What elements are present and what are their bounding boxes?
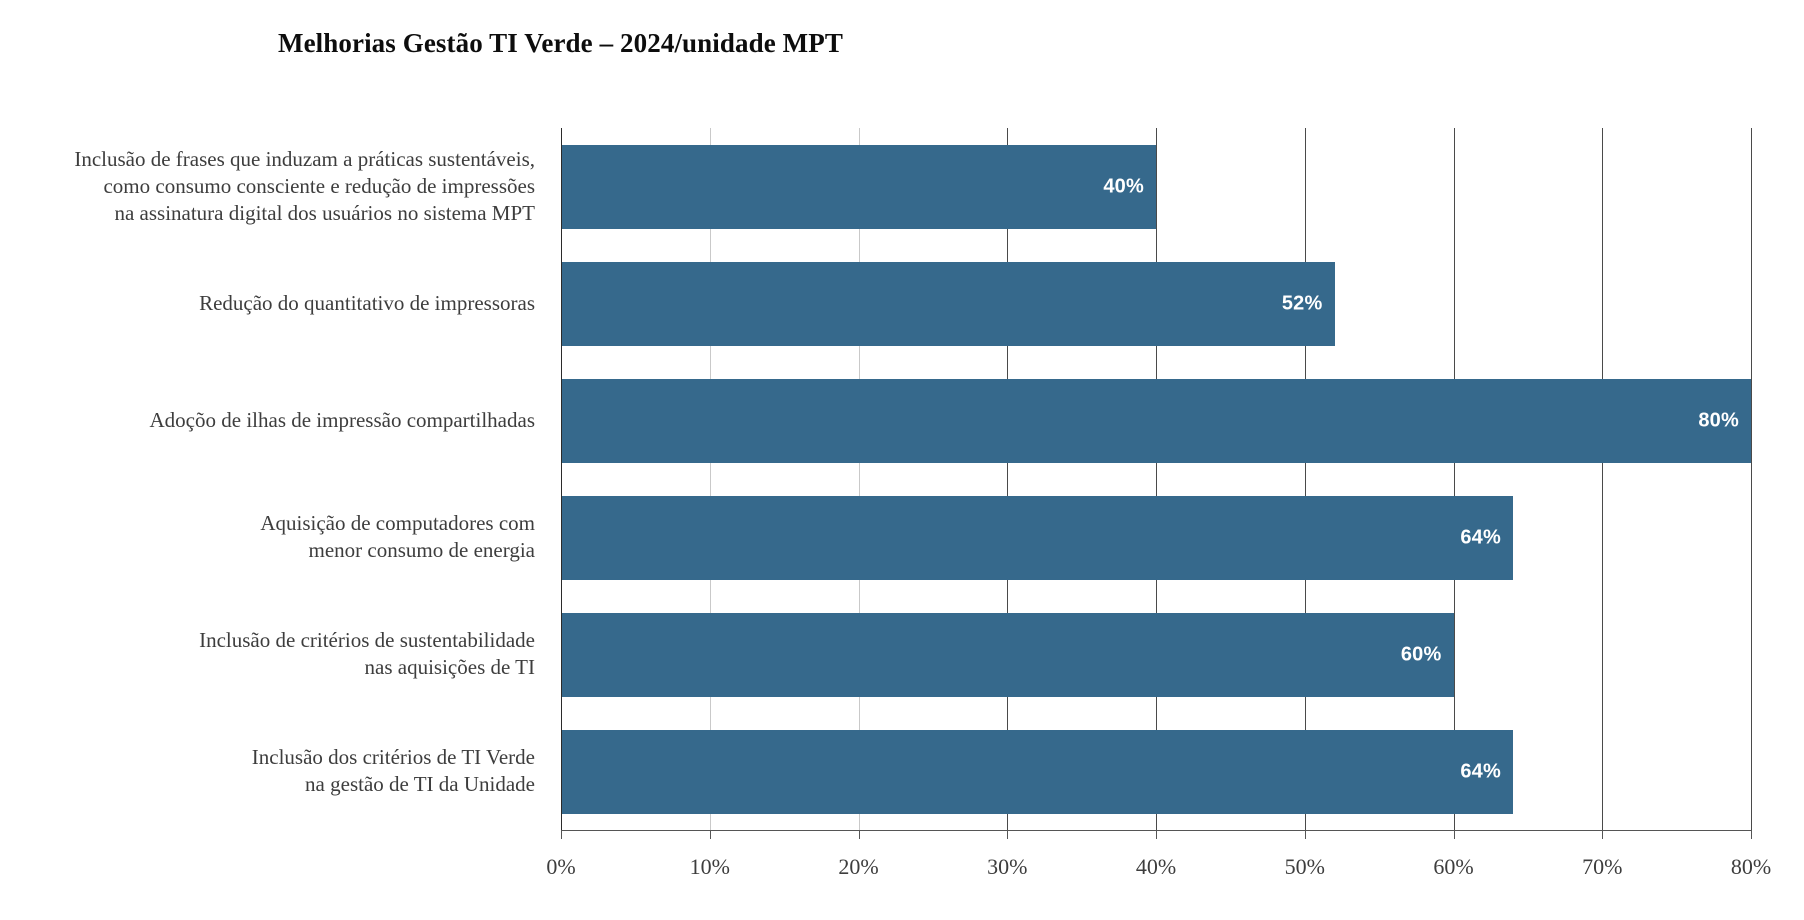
bar-row: 52% (561, 262, 1751, 346)
x-tick (859, 830, 860, 839)
x-tick-label: 30% (987, 854, 1027, 880)
bar-row: 80% (561, 379, 1751, 463)
bar[interactable] (561, 145, 1156, 229)
x-tick-label: 60% (1433, 854, 1473, 880)
bar-row: 60% (561, 613, 1751, 697)
x-tick (1305, 830, 1306, 839)
bar-row: 64% (561, 496, 1751, 580)
x-tick-label: 70% (1582, 854, 1622, 880)
x-tick-label: 20% (838, 854, 878, 880)
bar-value-label: 80% (1698, 409, 1739, 432)
bars: 40%52%80%64%60%64% (561, 128, 1751, 830)
category-label: Inclusão dos critérios de TI Verde na ge… (252, 744, 535, 799)
category-label: Inclusão de critérios de sustentabilidad… (199, 627, 535, 682)
x-tick-label: 0% (546, 854, 575, 880)
x-tick (1156, 830, 1157, 839)
x-tick-label: 80% (1731, 854, 1771, 880)
category-label: Adoçõo de ilhas de impressão compartilha… (150, 407, 535, 434)
category-label: Redução do quantitativo de impressoras (199, 290, 535, 317)
x-tick-label: 40% (1136, 854, 1176, 880)
page-title: Melhorias Gestão TI Verde – 2024/unidade… (278, 28, 843, 59)
x-tick-label: 10% (690, 854, 730, 880)
x-tick (561, 830, 562, 839)
x-tick (1007, 830, 1008, 839)
bar-value-label: 40% (1103, 175, 1144, 198)
x-tick (1602, 830, 1603, 839)
gridline-80 (1751, 128, 1752, 830)
x-tick (1751, 830, 1752, 839)
bar[interactable] (561, 613, 1454, 697)
bar-value-label: 52% (1282, 292, 1323, 315)
bar[interactable] (561, 496, 1513, 580)
bar-row: 40% (561, 145, 1751, 229)
bar-value-label: 60% (1401, 643, 1442, 666)
chart-page: Melhorias Gestão TI Verde – 2024/unidade… (0, 0, 1804, 920)
bar[interactable] (561, 730, 1513, 814)
x-tick (1454, 830, 1455, 839)
plot-area: 40%52%80%64%60%64% (561, 128, 1751, 830)
y-axis-line (561, 128, 562, 830)
bar-value-label: 64% (1460, 760, 1501, 783)
bar[interactable] (561, 379, 1751, 463)
bar-row: 64% (561, 730, 1751, 814)
category-label: Inclusão de frases que induzam a prática… (74, 146, 535, 228)
x-tick (710, 830, 711, 839)
category-label: Aquisição de computadores com menor cons… (260, 510, 535, 565)
bar-value-label: 64% (1460, 526, 1501, 549)
bar[interactable] (561, 262, 1335, 346)
x-tick-label: 50% (1285, 854, 1325, 880)
